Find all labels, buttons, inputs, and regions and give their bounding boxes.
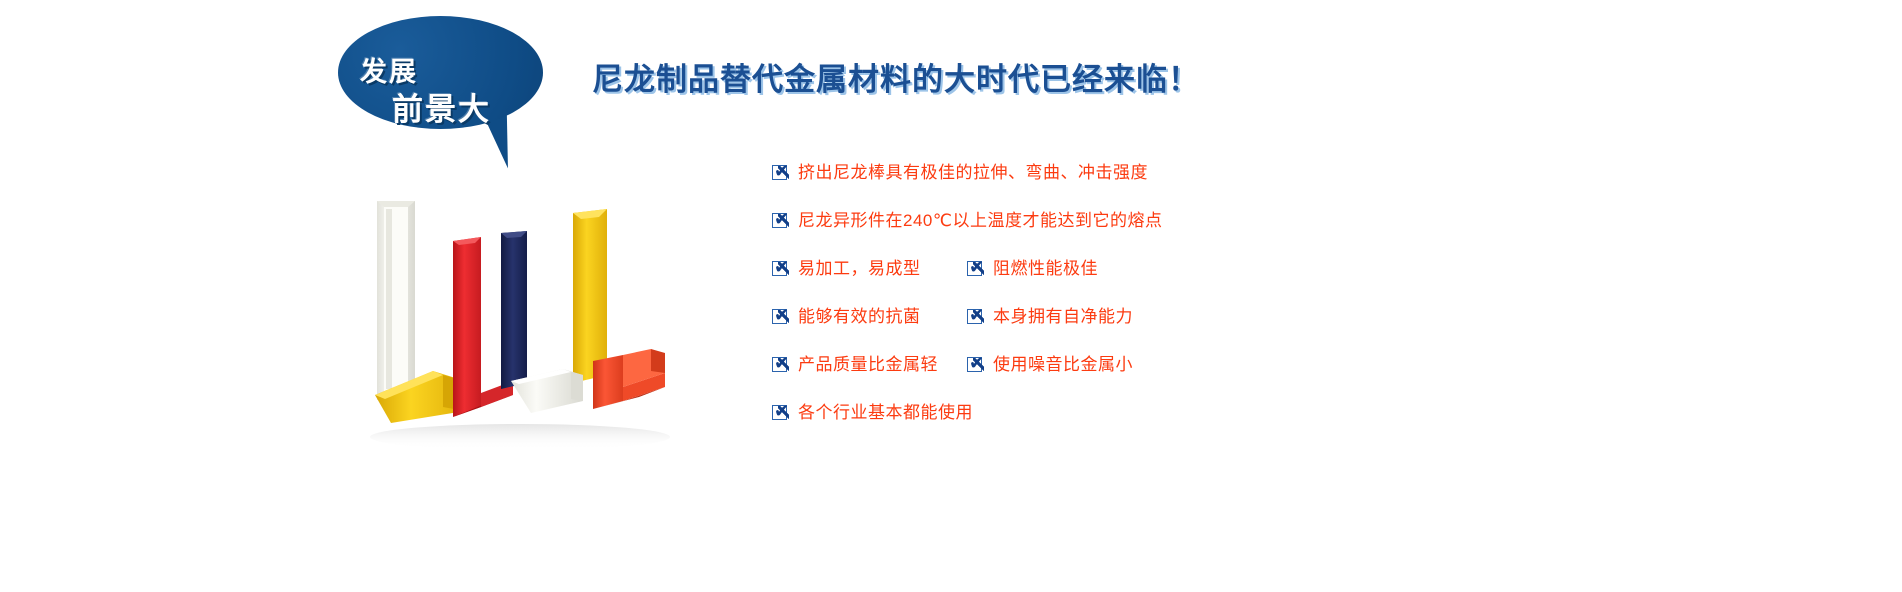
checkbox-checked-icon: ✔ — [772, 405, 787, 420]
headline: 尼龙制品替代金属材料的大时代已经来临！ — [592, 54, 1200, 99]
feature-label: 产品质量比金属轻 — [798, 356, 938, 373]
feature-item-4: ✔ 阻燃性能极佳 — [967, 260, 1098, 277]
feature-item-1: ✔ 挤出尼龙棒具有极佳的拉伸、弯曲、冲击强度 — [772, 164, 1148, 181]
nylon-profile-bars-illustration — [355, 185, 695, 460]
feature-item-3: ✔ 易加工，易成型 — [772, 260, 967, 277]
feature-label: 使用噪音比金属小 — [993, 356, 1133, 373]
feature-label: 挤出尼龙棒具有极佳的拉伸、弯曲、冲击强度 — [798, 164, 1148, 181]
checkbox-checked-icon: ✔ — [772, 261, 787, 276]
feature-label: 能够有效的抗菌 — [798, 308, 921, 325]
feature-item-6: ✔ 本身拥有自净能力 — [967, 308, 1133, 325]
checkbox-checked-icon: ✔ — [967, 309, 982, 324]
checkbox-checked-icon: ✔ — [967, 261, 982, 276]
feature-row-4: ✔ 能够有效的抗菌 ✔ 本身拥有自净能力 — [772, 308, 1133, 325]
feature-item-8: ✔ 使用噪音比金属小 — [967, 356, 1133, 373]
feature-label: 各个行业基本都能使用 — [798, 404, 973, 421]
feature-item-9: ✔ 各个行业基本都能使用 — [772, 404, 973, 421]
feature-label: 尼龙异形件在240℃以上温度才能达到它的熔点 — [798, 212, 1162, 229]
promo-banner: 发展 前景大 尼龙制品替代金属材料的大时代已经来临！ — [0, 0, 1902, 592]
feature-label: 阻燃性能极佳 — [993, 260, 1098, 277]
feature-row-6: ✔ 各个行业基本都能使用 — [772, 404, 973, 421]
checkbox-checked-icon: ✔ — [772, 165, 787, 180]
feature-item-7: ✔ 产品质量比金属轻 — [772, 356, 967, 373]
feature-item-2: ✔ 尼龙异形件在240℃以上温度才能达到它的熔点 — [772, 212, 1162, 229]
speech-bubble: 发展 前景大 — [338, 16, 548, 166]
checkbox-checked-icon: ✔ — [772, 357, 787, 372]
feature-label: 本身拥有自净能力 — [993, 308, 1133, 325]
checkbox-checked-icon: ✔ — [772, 309, 787, 324]
feature-row-3: ✔ 易加工，易成型 ✔ 阻燃性能极佳 — [772, 260, 1098, 277]
checkbox-checked-icon: ✔ — [772, 213, 787, 228]
feature-row-1: ✔ 挤出尼龙棒具有极佳的拉伸、弯曲、冲击强度 — [772, 164, 1148, 181]
feature-item-5: ✔ 能够有效的抗菌 — [772, 308, 967, 325]
feature-row-2: ✔ 尼龙异形件在240℃以上温度才能达到它的熔点 — [772, 212, 1162, 229]
speech-bubble-line2: 前景大 — [392, 84, 491, 129]
feature-list: ✔ 挤出尼龙棒具有极佳的拉伸、弯曲、冲击强度 ✔ 尼龙异形件在240℃以上温度才… — [772, 158, 1332, 428]
product-photo — [355, 185, 695, 460]
feature-label: 易加工，易成型 — [798, 260, 921, 277]
feature-row-5: ✔ 产品质量比金属轻 ✔ 使用噪音比金属小 — [772, 356, 1133, 373]
checkbox-checked-icon: ✔ — [967, 357, 982, 372]
